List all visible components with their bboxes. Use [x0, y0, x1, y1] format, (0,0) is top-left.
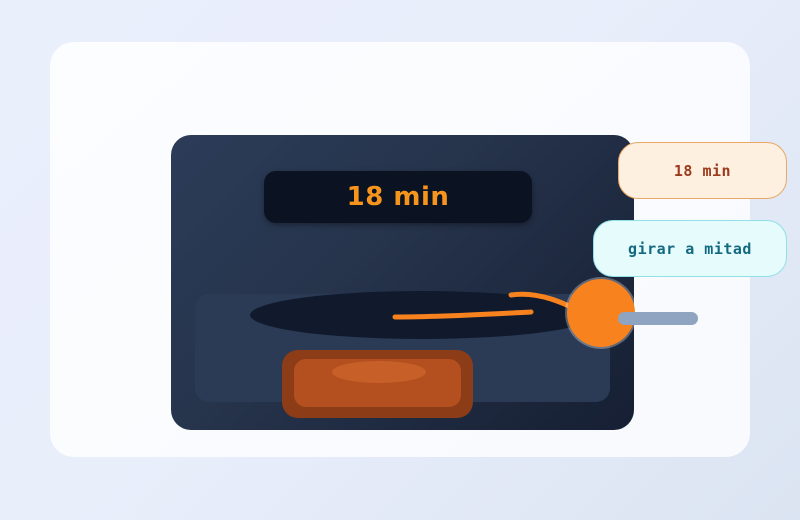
flip-callout-label: girar a mitad: [628, 240, 752, 258]
time-callout: 18 min: [618, 142, 787, 199]
oven-illustration: 18 min: [171, 135, 634, 430]
scene-background: 18 min 18 min girar a mitad: [0, 0, 800, 520]
oven-display: 18 min: [264, 171, 532, 223]
content-card: 18 min 18 min girar a mitad: [50, 42, 750, 457]
time-callout-label: 18 min: [674, 162, 731, 180]
food-item-inner: [294, 359, 461, 407]
flip-callout: girar a mitad: [593, 220, 787, 277]
drag-handle[interactable]: [618, 312, 698, 325]
food-item: [282, 350, 473, 418]
oven-display-value: 18 min: [347, 182, 450, 212]
food-highlight: [332, 361, 426, 383]
baking-pan: [250, 291, 595, 339]
